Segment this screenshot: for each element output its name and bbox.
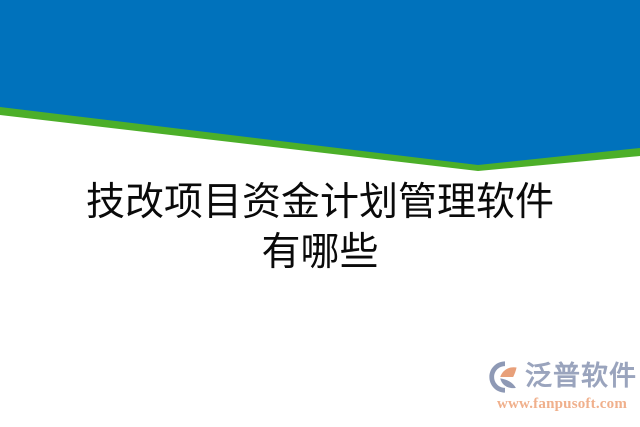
page-title: 技改项目资金计划管理软件 有哪些 (0, 178, 640, 278)
banner-blue-shape (0, 0, 640, 165)
watermark-url: www.fanpusoft.com (490, 395, 634, 413)
decorative-banner (0, 0, 640, 180)
page-title-line-1: 技改项目资金计划管理软件 (0, 178, 640, 228)
watermark-brand-name: 泛普软件 (525, 362, 637, 392)
watermark-brand-row: 泛普软件 (488, 357, 637, 397)
fanpu-swoosh-logo-icon (488, 360, 522, 394)
slide-canvas: 技改项目资金计划管理软件 有哪些 泛普软件 www.fanpusoft.com (0, 0, 640, 427)
page-title-line-2: 有哪些 (0, 228, 640, 278)
watermark: 泛普软件 www.fanpusoft.com (488, 357, 634, 419)
